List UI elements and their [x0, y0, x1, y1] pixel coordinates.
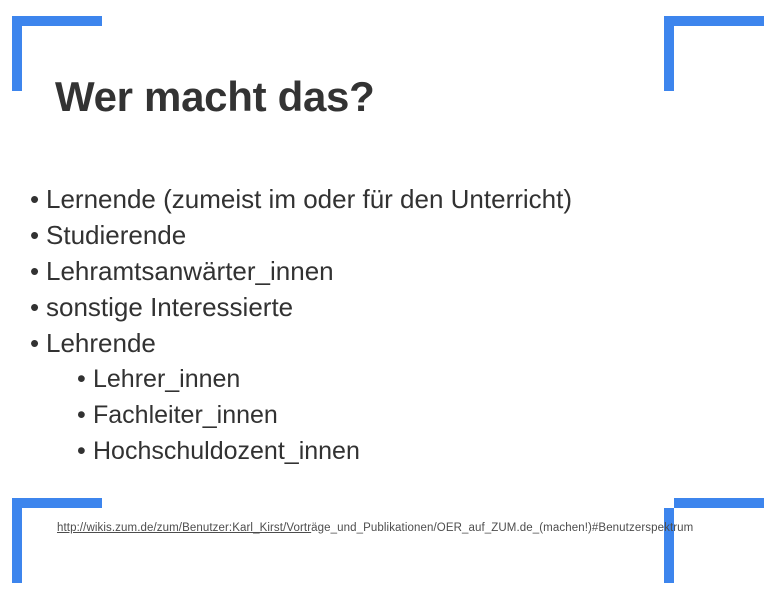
bullet-item-label: Lehrer_innen: [93, 361, 240, 397]
bullet-point-icon: •: [77, 361, 93, 397]
bullet-item-label: Fachleiter_innen: [93, 397, 278, 433]
bullet-item-label: Lernende (zumeist im oder für den Unterr…: [46, 181, 572, 217]
bullet-item: •Lehramtsanwärter_innen: [30, 253, 750, 289]
bullet-point-icon: •: [30, 325, 46, 361]
bullet-list: •Lernende (zumeist im oder für den Unter…: [30, 181, 750, 469]
bullet-item: •Fachleiter_innen: [30, 397, 750, 433]
bullet-point-icon: •: [30, 289, 46, 325]
bullet-item-label: Hochschuldozent_innen: [93, 433, 360, 469]
bullet-point-icon: •: [30, 181, 46, 217]
bullet-item: •Studierende: [30, 217, 750, 253]
bullet-item: •Lernende (zumeist im oder für den Unter…: [30, 181, 750, 217]
bullet-item-label: Lehrende: [46, 325, 156, 361]
slide-canvas: Wer macht das? •Lernende (zumeist im ode…: [0, 0, 776, 600]
bullet-point-icon: •: [77, 397, 93, 433]
bullet-item: •Lehrende: [30, 325, 750, 361]
slide-content: Wer macht das? •Lernende (zumeist im ode…: [0, 0, 776, 600]
bullet-item: •sonstige Interessierte: [30, 289, 750, 325]
bullet-item: •Lehrer_innen: [30, 361, 750, 397]
footer-url-underlined[interactable]: http://wikis.zum.de/zum/Benutzer:Karl_Ki…: [57, 522, 311, 534]
bullet-point-icon: •: [30, 217, 46, 253]
footer-source-url[interactable]: http://wikis.zum.de/zum/Benutzer:Karl_Ki…: [57, 522, 693, 534]
bullet-item-label: sonstige Interessierte: [46, 289, 293, 325]
footer-url-plain[interactable]: äge_und_Publikationen/OER_auf_ZUM.de_(ma…: [311, 522, 693, 534]
bullet-item-label: Studierende: [46, 217, 186, 253]
bullet-item-label: Lehramtsanwärter_innen: [46, 253, 334, 289]
bullet-point-icon: •: [30, 253, 46, 289]
bullet-item: •Hochschuldozent_innen: [30, 433, 750, 469]
bullet-point-icon: •: [77, 433, 93, 469]
slide-title: Wer macht das?: [55, 74, 374, 120]
